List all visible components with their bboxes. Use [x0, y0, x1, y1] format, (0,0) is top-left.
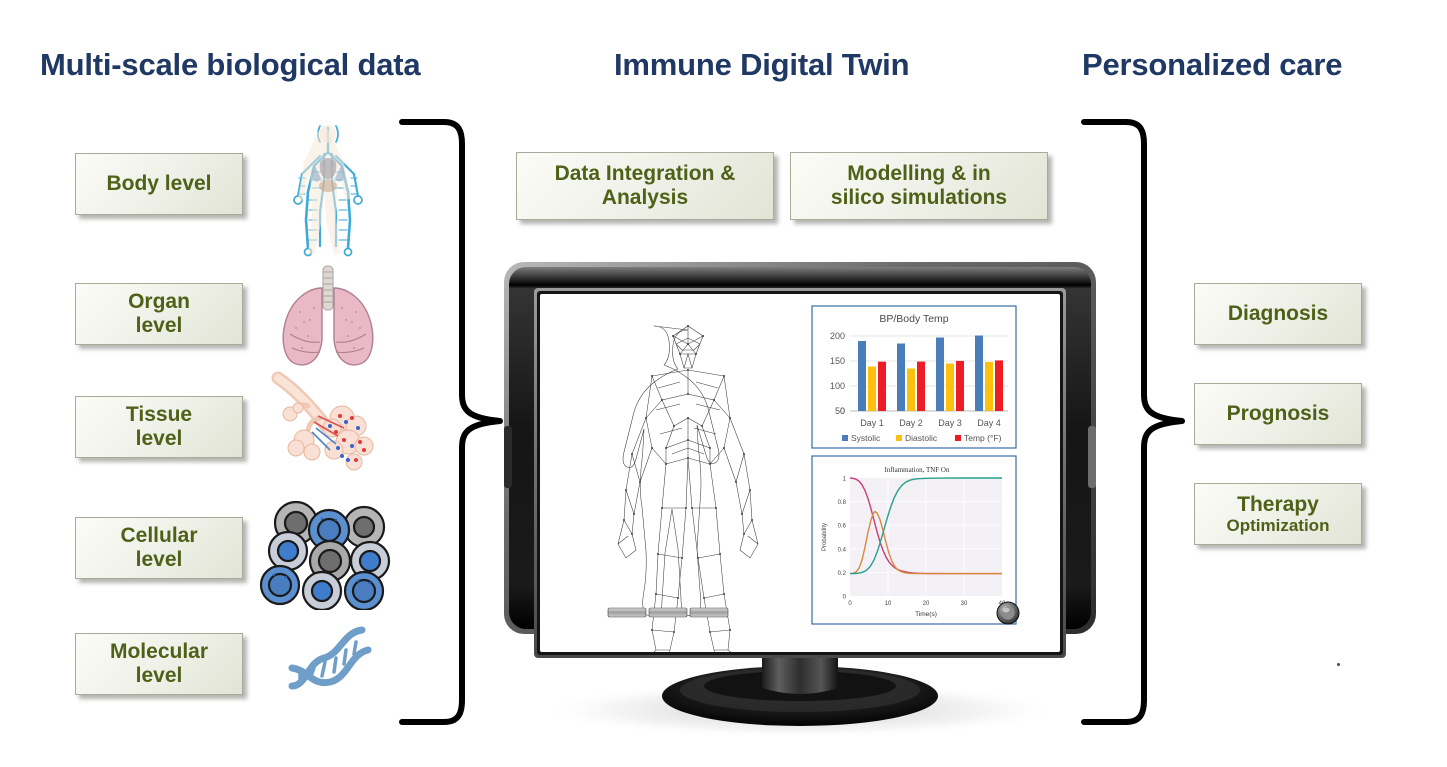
bar-systolic: [897, 344, 905, 412]
label-sublabel: Optimization: [1227, 516, 1330, 535]
label-line: Molecular: [110, 640, 208, 664]
label-line: Tissue: [126, 403, 192, 427]
label-line: level: [136, 314, 183, 338]
y-tick-zero: 0: [840, 406, 845, 416]
x-tick: Day 3: [938, 418, 962, 428]
alveoli-icon: [268, 370, 388, 495]
brace-left: [396, 118, 506, 726]
chart-bp-body-temp: BP/Body Temp 200 150 100 50 0: [812, 306, 1016, 448]
legend-swatch-systolic: [842, 435, 848, 441]
legend-label: Temp (°F): [964, 433, 1002, 443]
label-line: Diagnosis: [1228, 302, 1328, 326]
label-box-data-integration[interactable]: Data Integration & Analysis: [516, 152, 774, 220]
bar-temp: [995, 360, 1003, 411]
chart-inflammation-tnf: Inflammation, TNF On 1 0.8 0.6: [812, 456, 1016, 624]
label-line: Data Integration &: [555, 162, 736, 186]
x-tick: 30: [961, 601, 968, 607]
chart-title: Inflammation, TNF On: [884, 466, 950, 474]
monitor-buttons: [608, 608, 728, 617]
label-box-tissue-level[interactable]: Tissue level: [75, 396, 243, 458]
legend-swatch-diastolic: [896, 435, 902, 441]
y-axis-label: Probability: [822, 523, 828, 551]
label-box-diagnosis[interactable]: Diagnosis: [1194, 283, 1362, 345]
x-axis-label: Time(s): [915, 611, 937, 618]
dna-helix-icon: [278, 620, 388, 695]
label-line: Modelling & in: [847, 162, 990, 186]
label-box-body-level[interactable]: Body level: [75, 153, 243, 215]
page-title-left: Multi-scale biological data: [40, 47, 420, 83]
y-tick: 150: [830, 356, 845, 366]
x-tick: Day 1: [860, 418, 884, 428]
human-vascular-system-icon: [268, 122, 388, 257]
power-button[interactable]: [997, 602, 1019, 624]
label-line: level: [136, 427, 183, 451]
chart-title: BP/Body Temp: [879, 313, 948, 325]
bar-temp: [956, 361, 964, 411]
page-title-center: Immune Digital Twin: [614, 47, 909, 83]
label-line: Cellular: [120, 524, 197, 548]
y-tick: 0.2: [838, 571, 847, 577]
label-box-modelling-simulations[interactable]: Modelling & in silico simulations: [790, 152, 1048, 220]
y-tick: 0.8: [838, 500, 847, 506]
diagram-canvas: Multi-scale biological data Immune Digit…: [0, 0, 1447, 767]
bar-systolic: [975, 336, 983, 412]
chart-legend: Systolic Diastolic Temp (°F): [842, 433, 1002, 443]
label-box-molecular-level[interactable]: Molecular level: [75, 633, 243, 695]
monitor-button-1[interactable]: [608, 608, 646, 617]
label-box-cellular-level[interactable]: Cellular level: [75, 517, 243, 579]
y-tick: 100: [830, 381, 845, 391]
label-line: Organ: [128, 290, 190, 314]
bar-diastolic: [985, 362, 993, 411]
monitor-display[interactable]: BP/Body Temp 200 150 100 50 0: [500, 258, 1100, 738]
y-tick: 200: [830, 331, 845, 341]
x-tick: Day 4: [977, 418, 1001, 428]
label-line: Analysis: [602, 186, 688, 210]
bar-diastolic: [946, 364, 954, 412]
bar-systolic: [858, 341, 866, 411]
y-tick: 0.4: [838, 547, 847, 553]
y-tick: 0.6: [838, 524, 847, 530]
x-tick: 10: [885, 601, 892, 607]
stray-dot: [1337, 663, 1340, 666]
bar-temp: [878, 362, 886, 411]
x-tick: 20: [923, 601, 930, 607]
label-box-prognosis[interactable]: Prognosis: [1194, 383, 1362, 445]
bar-temp: [917, 362, 925, 411]
legend-swatch-temp: [955, 435, 961, 441]
label-line: Therapy: [1237, 493, 1319, 517]
label-line: Prognosis: [1227, 402, 1330, 426]
label-line: Body level: [106, 172, 211, 196]
lungs-icon: [268, 262, 388, 372]
x-tick: Day 2: [899, 418, 923, 428]
label-line: silico simulations: [831, 186, 1007, 210]
cells-cluster-icon: [258, 495, 398, 610]
legend-label: Diastolic: [905, 433, 938, 443]
bar-diastolic: [868, 367, 876, 412]
monitor-button-3[interactable]: [690, 608, 728, 617]
monitor-button-2[interactable]: [649, 608, 687, 617]
bar-diastolic: [907, 369, 915, 412]
label-line: level: [136, 664, 183, 688]
label-box-organ-level[interactable]: Organ level: [75, 283, 243, 345]
legend-label: Systolic: [851, 433, 881, 443]
bar-systolic: [936, 338, 944, 412]
label-line: level: [136, 548, 183, 572]
label-box-therapy-optimization[interactable]: Therapy Optimization: [1194, 483, 1362, 545]
page-title-right: Personalized care: [1082, 47, 1342, 83]
